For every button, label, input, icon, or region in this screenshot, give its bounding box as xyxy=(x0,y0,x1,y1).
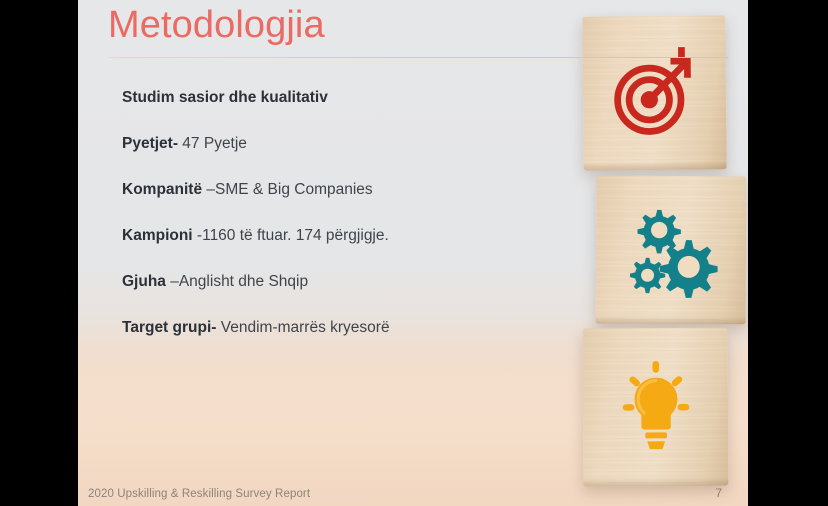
body-line: Gjuha –Anglisht dhe Shqip xyxy=(122,272,522,292)
body-line-rest: –Anglisht dhe Shqip xyxy=(166,273,308,290)
title-text: Metodologjia xyxy=(108,2,325,48)
page-title: Metodologjia xyxy=(108,2,325,48)
body-line-rest: 47 Pyetje xyxy=(178,135,247,152)
wooden-block-gears xyxy=(596,176,747,325)
title-divider-rule xyxy=(108,57,728,58)
body-line-lead: Kompanitë xyxy=(122,181,202,198)
body-line-lead: Studim sasior dhe kualitativ xyxy=(122,89,328,106)
body-line-rest: –SME & Big Companies xyxy=(202,181,373,198)
body-content-list: Studim sasior dhe kualitativ Pyetjet- 47… xyxy=(122,88,522,364)
letterbox-bar-left xyxy=(0,0,78,506)
slide-viewer: Metodologjia Studim sasior dhe kualitati… xyxy=(0,0,828,506)
body-line: Kampioni -1160 të ftuar. 174 përgjigje. xyxy=(122,226,522,246)
body-line: Kompanitë –SME & Big Companies xyxy=(122,180,522,200)
wooden-block-target xyxy=(582,15,727,170)
lightbulb-icon xyxy=(583,328,729,487)
presentation-slide: Metodologjia Studim sasior dhe kualitati… xyxy=(78,0,748,506)
body-line-lead: Pyetjet- xyxy=(122,135,178,152)
target-icon xyxy=(582,15,727,170)
body-line-lead: Gjuha xyxy=(122,273,166,290)
body-line-lead: Kampioni xyxy=(122,227,193,244)
body-line-lead: Target grupi- xyxy=(122,319,216,336)
gears-icon xyxy=(596,176,747,325)
body-line-rest: -1160 të ftuar. 174 përgjigje. xyxy=(193,227,389,244)
slide-footer: 2020 Upskilling & Reskilling Survey Repo… xyxy=(88,488,310,500)
page-number: 7 xyxy=(715,486,722,500)
letterbox-bar-right xyxy=(748,0,828,506)
body-line: Studim sasior dhe kualitativ xyxy=(122,88,522,108)
wooden-block-lightbulb xyxy=(583,328,729,487)
body-line-rest: Vendim-marrës kryesorë xyxy=(216,319,389,336)
body-line: Pyetjet- 47 Pyetje xyxy=(122,134,522,154)
body-line: Target grupi- Vendim-marrës kryesorë xyxy=(122,318,522,338)
